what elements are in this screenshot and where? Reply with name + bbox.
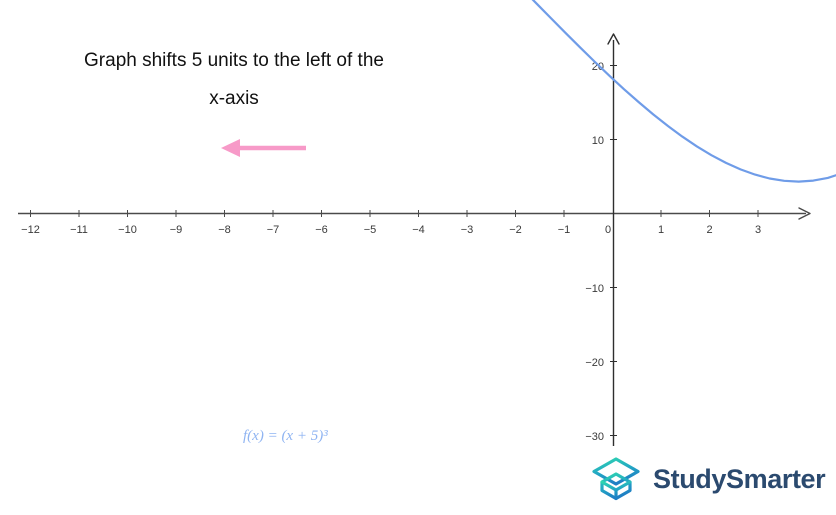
y-tick-label: 10 (592, 135, 604, 147)
studysmarter-logo: StudySmarter (589, 452, 825, 506)
x-tick-label: −1 (558, 224, 571, 236)
y-tick-label: −20 (585, 357, 604, 369)
shift-left-arrow (215, 135, 315, 161)
x-tick-label: −8 (218, 224, 231, 236)
x-tick-label: 3 (755, 224, 761, 236)
y-axis-tick-labels: 20 10 −10 −20 −30 (585, 61, 604, 443)
x-tick-label: −7 (267, 224, 280, 236)
x-tick-label: −5 (364, 224, 377, 236)
x-tick-label: −3 (461, 224, 474, 236)
function-curve (508, 0, 836, 182)
y-axis: 20 10 −10 −20 −30 (585, 34, 619, 446)
x-tick-label: −12 (21, 224, 40, 236)
x-tick-label-origin: 0 (605, 224, 611, 236)
y-tick-label: 20 (592, 61, 604, 73)
graph-canvas: Graph shifts 5 units to the left of the … (0, 0, 836, 515)
y-tick-label: −10 (585, 283, 604, 295)
x-tick-label: −10 (118, 224, 137, 236)
x-tick-label: 2 (706, 224, 712, 236)
logo-wordmark: StudySmarter (653, 464, 825, 495)
x-tick-label: −2 (509, 224, 522, 236)
x-tick-label: −6 (315, 224, 328, 236)
x-axis-tick-labels: −12 −11 −10 −9 −8 −7 −6 −5 −4 −3 −2 −1 0… (21, 224, 761, 236)
x-tick-label: −9 (170, 224, 183, 236)
x-axis: −12 −11 −10 −9 −8 −7 −6 −5 −4 −3 −2 −1 0… (18, 208, 810, 236)
x-tick-label: 1 (658, 224, 664, 236)
studysmarter-cube-icon (589, 452, 643, 506)
x-tick-label: −4 (412, 224, 425, 236)
function-label: f(x) = (x + 5)³ (243, 428, 328, 444)
arrow-head (221, 139, 240, 157)
y-tick-label-clipped: −30 (585, 431, 604, 443)
cube-lid (594, 459, 638, 484)
x-tick-label: −11 (70, 224, 88, 236)
cubic-function-plot: −12 −11 −10 −9 −8 −7 −6 −5 −4 −3 −2 −1 0… (0, 0, 836, 515)
